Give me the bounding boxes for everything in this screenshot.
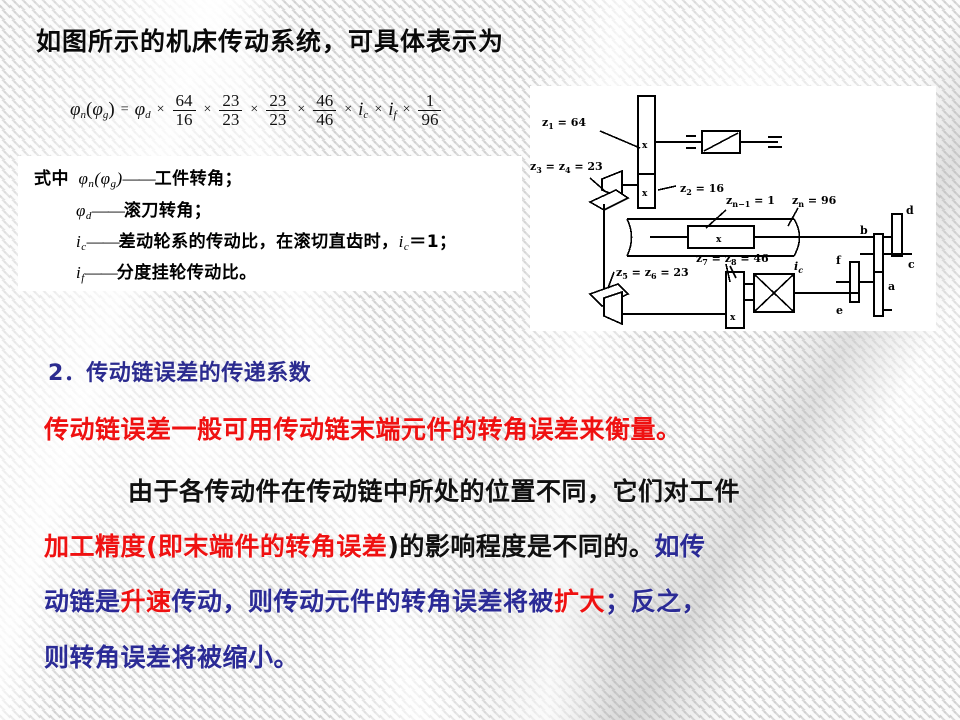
body-line-5: 则转角误差将被缩小。	[44, 638, 299, 674]
fraction-numerator: 46	[313, 92, 336, 110]
label-z1: z1 = 64	[542, 116, 586, 131]
body-line-4-blue-b: 传动，则传动元件的转角误差将被	[172, 587, 555, 616]
times-1: ×	[157, 102, 165, 118]
times-4: ×	[297, 102, 305, 118]
fraction-46-46: 46 46	[313, 92, 336, 129]
label-gear-f: f	[836, 254, 842, 267]
slide-canvas: 如图所示的机床传动系统，可具体表示为 φn(φg) = φd × 64 16 ×…	[0, 0, 960, 720]
phi-d-sub: d	[145, 109, 151, 121]
equals-sign: =	[121, 102, 129, 118]
legend-symbol: ic	[76, 232, 87, 251]
page-title: 如图所示的机床传动系统，可具体表示为	[36, 22, 504, 58]
times-6: ×	[374, 102, 382, 118]
legend-dash: ——	[92, 201, 124, 220]
body-line-4-red-b: 扩大	[554, 587, 605, 616]
machine-tool-kinematic-diagram: z1 = 64 z2 = 16 z3 = z4 = 23 z5 = z6 = 2…	[530, 86, 936, 331]
fraction-denominator: 96	[418, 110, 441, 129]
formula-lhs: φn(φg)	[70, 99, 115, 121]
fraction-23-23-b: 23 23	[266, 92, 289, 129]
label-gear-d: d	[906, 204, 914, 217]
shaft-mark-x3: x	[716, 235, 722, 245]
label-zn-1: zn−1 = 1	[726, 194, 775, 209]
fraction-23-23-a: 23 23	[219, 92, 242, 129]
body-line-4-red-a: 升速	[121, 587, 172, 616]
body-line-3-red: 加工精度(即末端件的转角误差	[44, 532, 387, 561]
fraction-numerator: 64	[173, 92, 196, 110]
label-z5-z6: z5 = z6 = 23	[616, 266, 689, 281]
label-gear-c: c	[908, 258, 915, 271]
ratio-if: if	[388, 99, 396, 121]
transmission-formula: φn(φg) = φd × 64 16 × 23 23 × 23 23 × 46…	[70, 92, 443, 129]
fraction-numerator: 1	[423, 92, 438, 110]
body-line-3-black: )的影响程度是不同的。	[387, 532, 654, 561]
kinematic-schematic-svg: z1 = 64 z2 = 16 z3 = z4 = 23 z5 = z6 = 2…	[530, 86, 936, 331]
legend-text: 分度挂轮传动比。	[117, 263, 257, 283]
body-line-4-blue-c: ；反之，	[605, 587, 707, 616]
legend-dash: ——	[85, 263, 117, 282]
if-sub: f	[394, 109, 397, 121]
fraction-numerator: 23	[219, 92, 242, 110]
label-gear-b: b	[860, 224, 868, 237]
legend-dash: ——	[123, 169, 155, 188]
legend-symbol: φd	[76, 201, 92, 220]
shaft-mark-x2: x	[642, 189, 648, 199]
formula-phi-d: φd	[135, 99, 151, 121]
legend-tail-text: ＝1；	[409, 232, 456, 252]
times-3: ×	[250, 102, 258, 118]
body-line-3-blue: 如传	[654, 532, 705, 561]
body-line-4-blue-a: 动链是	[44, 587, 121, 616]
fraction-denominator: 16	[173, 110, 196, 129]
formula-legend-panel: 式中 φn(φg)——工件转角； φd——滚刀转角； ic——差动轮系的传动比，…	[18, 156, 522, 291]
fraction-1-96: 1 96	[418, 92, 441, 129]
body-line-4: 动链是升速传动，则传动元件的转角误差将被扩大；反之，	[44, 582, 707, 618]
legend-row-3: ic——差动轮系的传动比，在滚切直齿时，ic＝1；	[76, 227, 457, 253]
section-heading: 2．传动链误差的传递系数	[48, 355, 311, 387]
legend-row-2: φd——滚刀转角；	[76, 196, 211, 222]
body-line-3: 加工精度(即末端件的转角误差)的影响程度是不同的。如传	[44, 527, 705, 563]
legend-prefix: 式中	[34, 169, 69, 189]
label-gear-e: e	[836, 304, 843, 317]
label-zn: zn = 96	[792, 194, 837, 209]
times-2: ×	[204, 102, 212, 118]
fraction-denominator: 46	[313, 110, 336, 129]
legend-tail-symbol: ic	[399, 232, 410, 251]
times-7: ×	[403, 102, 411, 118]
body-line-1: 传动链误差一般可用传动链末端元件的转角误差来衡量。	[44, 410, 682, 446]
legend-row-4: if——分度挂轮传动比。	[76, 258, 257, 284]
shaft-mark-x4: x	[730, 313, 736, 323]
legend-symbol: φn(φg)	[74, 169, 123, 188]
legend-row-1: 式中 φn(φg)——工件转角；	[34, 164, 242, 190]
body-line-2: 由于各传动件在传动链中所处的位置不同，它们对工件	[44, 472, 740, 508]
label-z7-z8: z7 = z8 = 46	[696, 252, 769, 267]
legend-text: 工件转角；	[155, 169, 243, 189]
ratio-ic: ic	[358, 99, 368, 121]
legend-text: 滚刀转角；	[124, 201, 212, 221]
label-z3-z4: z3 = z4 = 23	[530, 160, 603, 175]
shaft-mark-x1: x	[642, 141, 648, 151]
times-5: ×	[344, 102, 352, 118]
label-gear-a: a	[888, 280, 895, 293]
lhs-paren-sub: g	[103, 109, 109, 121]
fraction-64-16: 64 16	[173, 92, 196, 129]
body-line-2-text: 由于各传动件在传动链中所处的位置不同，它们对工件	[128, 477, 740, 506]
legend-symbol: if	[76, 263, 85, 282]
legend-text: 差动轮系的传动比，在滚切直齿时，	[119, 232, 399, 252]
ic-sub: c	[363, 109, 368, 121]
lhs-sub: n	[81, 109, 87, 121]
fraction-denominator: 23	[219, 110, 242, 129]
legend-dash: ——	[87, 232, 119, 251]
label-z2: z2 = 16	[680, 182, 724, 197]
label-ic: ic	[794, 260, 803, 275]
fraction-denominator: 23	[266, 110, 289, 129]
fraction-numerator: 23	[266, 92, 289, 110]
